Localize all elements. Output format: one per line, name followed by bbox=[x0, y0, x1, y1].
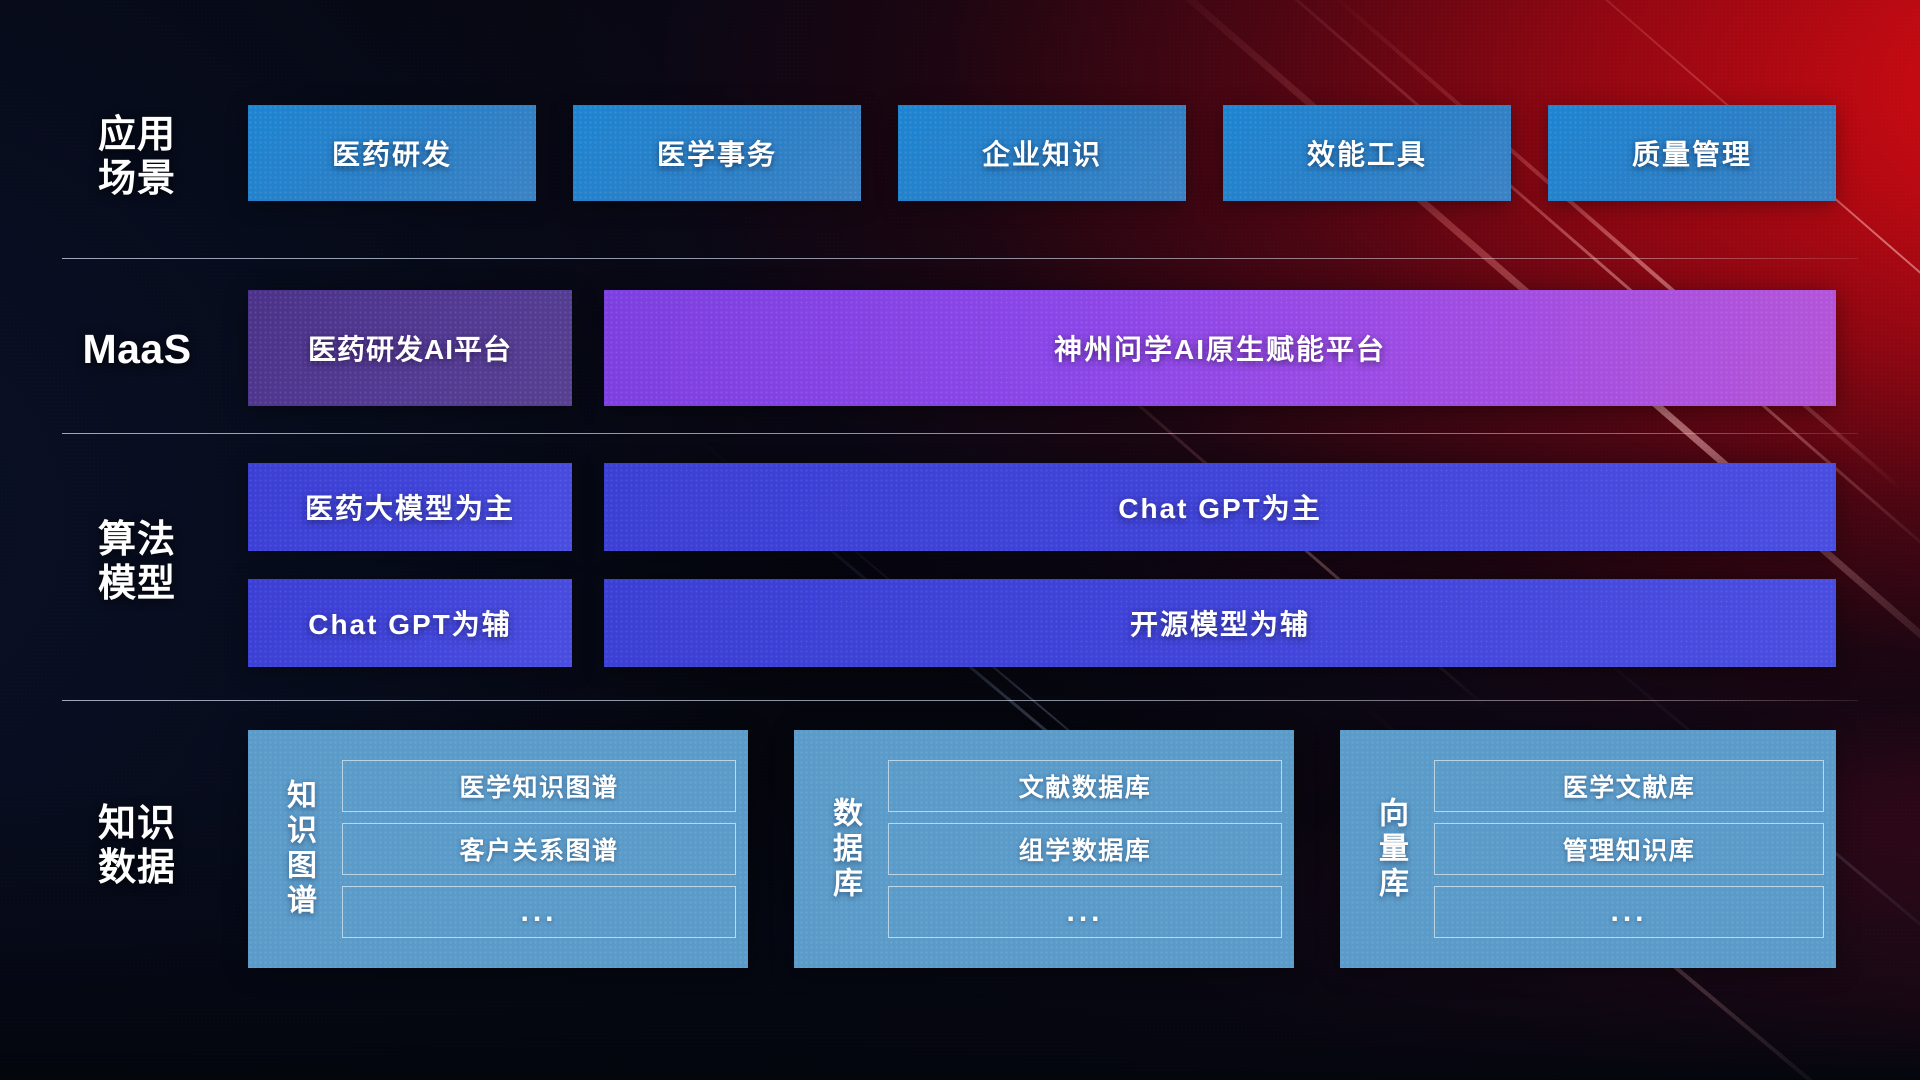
knowledge-item-medical-graph[interactable]: 医学知识图谱 bbox=[342, 760, 736, 812]
app-box-enterprise-knowledge[interactable]: 企业知识 bbox=[898, 105, 1186, 201]
maas-box-shenzhou-wenxue-platform[interactable]: 神州问学AI原生赋能平台 bbox=[604, 290, 1836, 406]
row-label-knowledge-line2: 数据 bbox=[62, 846, 212, 890]
row-label-application: 应用 场景 bbox=[62, 113, 212, 201]
row-label-algorithm-line2: 模型 bbox=[62, 562, 212, 606]
algo-box-opensource-secondary[interactable]: 开源模型为辅 bbox=[604, 579, 1836, 667]
knowledge-item-database-more[interactable]: ... bbox=[888, 886, 1282, 938]
knowledge-group-database-label: 数据库 bbox=[808, 740, 880, 958]
row-label-algorithm-line1: 算法 bbox=[62, 518, 212, 562]
row-maas: MaaS 医药研发AI平台 神州问学AI原生赋能平台 bbox=[0, 290, 1920, 406]
row-algorithm: 算法 模型 医药大模型为主 Chat GPT为主 Chat GPT为辅 开源模型… bbox=[0, 463, 1920, 673]
knowledge-group-database[interactable]: 数据库 文献数据库 组学数据库 ... bbox=[794, 730, 1294, 968]
row-knowledge: 知识 数据 知识图谱 医学知识图谱 客户关系图谱 ... 数据库 文献数据库 组… bbox=[0, 730, 1920, 968]
knowledge-group-graph-label: 知识图谱 bbox=[262, 740, 334, 958]
knowledge-group-graph-items: 医学知识图谱 客户关系图谱 ... bbox=[334, 740, 736, 958]
algo-box-pharma-llm-primary[interactable]: 医药大模型为主 bbox=[248, 463, 572, 551]
divider-application-maas bbox=[62, 258, 1858, 259]
row-label-maas: MaaS bbox=[62, 326, 212, 374]
architecture-diagram: 应用 场景 医药研发 医学事务 企业知识 效能工具 质量管理 MaaS 医药研发… bbox=[0, 0, 1920, 1080]
app-box-efficiency-tools[interactable]: 效能工具 bbox=[1223, 105, 1511, 201]
knowledge-group-vector-label: 向量库 bbox=[1354, 740, 1426, 958]
knowledge-group-vector-items: 医学文献库 管理知识库 ... bbox=[1426, 740, 1824, 958]
app-box-medicine-rd[interactable]: 医药研发 bbox=[248, 105, 536, 201]
knowledge-group-vector[interactable]: 向量库 医学文献库 管理知识库 ... bbox=[1340, 730, 1836, 968]
row-label-application-line1: 应用 bbox=[62, 113, 212, 157]
algo-box-chatgpt-primary[interactable]: Chat GPT为主 bbox=[604, 463, 1836, 551]
knowledge-item-vector-more[interactable]: ... bbox=[1434, 886, 1824, 938]
knowledge-item-medical-literature[interactable]: 医学文献库 bbox=[1434, 760, 1824, 812]
row-label-knowledge-line1: 知识 bbox=[62, 802, 212, 846]
knowledge-item-omics-db[interactable]: 组学数据库 bbox=[888, 823, 1282, 875]
row-label-knowledge: 知识 数据 bbox=[62, 802, 212, 890]
row-label-application-line2: 场景 bbox=[62, 157, 212, 201]
knowledge-item-literature-db[interactable]: 文献数据库 bbox=[888, 760, 1282, 812]
row-label-algorithm: 算法 模型 bbox=[62, 518, 212, 606]
app-box-medical-affairs[interactable]: 医学事务 bbox=[573, 105, 861, 201]
knowledge-item-management-knowledge[interactable]: 管理知识库 bbox=[1434, 823, 1824, 875]
maas-box-pharma-ai-platform[interactable]: 医药研发AI平台 bbox=[248, 290, 572, 406]
divider-algorithm-knowledge bbox=[62, 700, 1858, 701]
algo-box-chatgpt-secondary[interactable]: Chat GPT为辅 bbox=[248, 579, 572, 667]
knowledge-item-graph-more[interactable]: ... bbox=[342, 886, 736, 938]
divider-maas-algorithm bbox=[62, 433, 1858, 434]
app-box-quality-management[interactable]: 质量管理 bbox=[1548, 105, 1836, 201]
row-application: 应用 场景 医药研发 医学事务 企业知识 效能工具 质量管理 bbox=[0, 105, 1920, 201]
knowledge-group-graph[interactable]: 知识图谱 医学知识图谱 客户关系图谱 ... bbox=[248, 730, 748, 968]
knowledge-item-customer-graph[interactable]: 客户关系图谱 bbox=[342, 823, 736, 875]
knowledge-group-database-items: 文献数据库 组学数据库 ... bbox=[880, 740, 1282, 958]
